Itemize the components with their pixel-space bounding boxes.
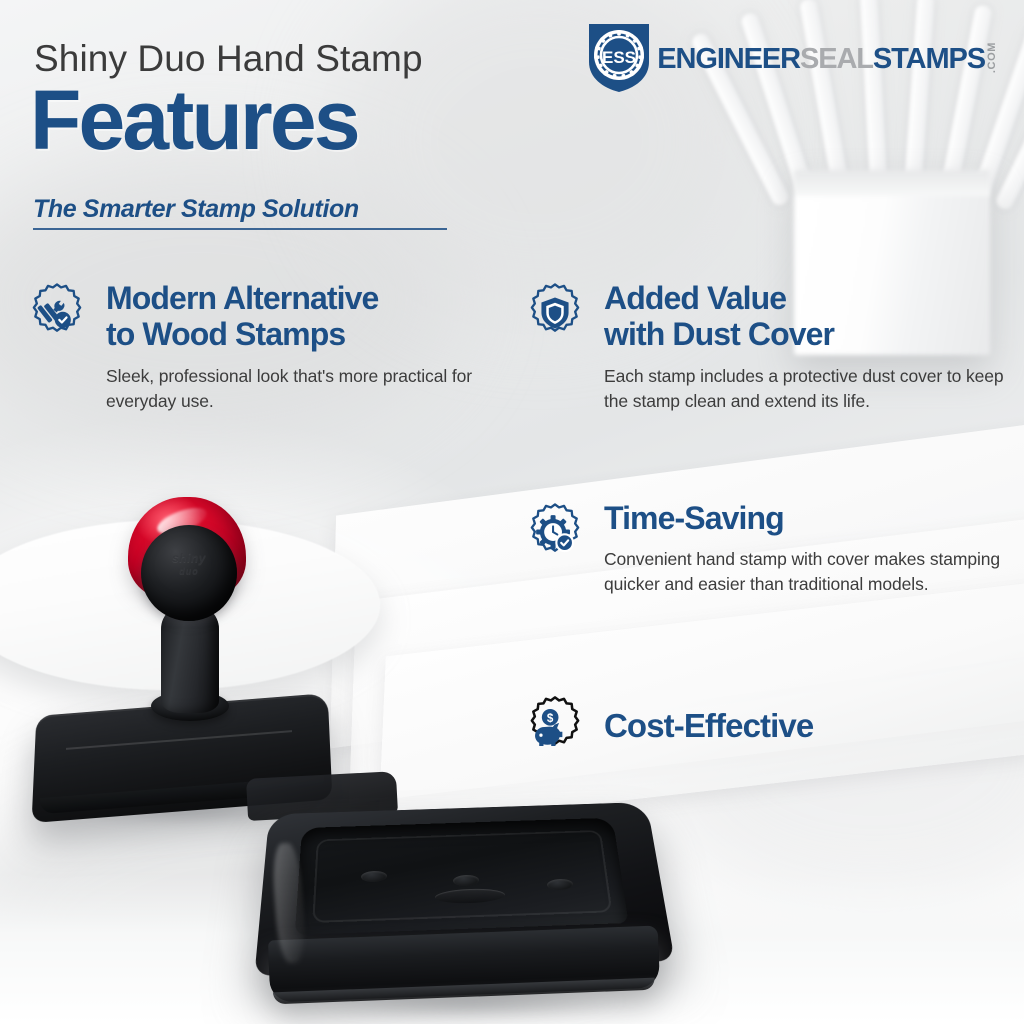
shield-badge-icon (524, 282, 586, 344)
feature-body: Time-Saving Convenient hand stamp with c… (604, 500, 1004, 597)
subtitle: The Smarter Stamp Solution (33, 196, 447, 224)
feature-body: Added Value with Dust Cover Each stamp i… (604, 280, 1004, 414)
dust-cover-tray-photo (255, 785, 675, 1015)
logo-word-dotcom: .COM (987, 42, 998, 73)
feature-body: Modern Alternative to Wood Stamps Sleek,… (106, 280, 496, 414)
tools-check-badge-icon (26, 282, 88, 344)
stamp-brand-line2: duo (141, 566, 237, 577)
ess-badge-text: ESS (602, 48, 636, 67)
page-title: Features (30, 78, 358, 162)
feature-title: Time-Saving (604, 500, 1004, 536)
hand-stamp-product-photo: shiny duo (30, 495, 340, 815)
feature-title: Modern Alternative to Wood Stamps (106, 280, 496, 353)
subtitle-underline (33, 228, 447, 230)
ess-logo[interactable]: ESS ENGINEER SEAL STAMPS .COM (587, 22, 998, 94)
feature-item-time-saving: Time-Saving Convenient hand stamp with c… (524, 500, 1004, 597)
dollar-sign-glyph: $ (547, 712, 554, 725)
logo-word-seal: SEAL (800, 45, 873, 74)
logo-wordmark: ENGINEER SEAL STAMPS .COM (657, 42, 998, 74)
feature-description: Each stamp includes a protective dust co… (604, 364, 1004, 414)
piggy-bank-badge-icon: $ (524, 695, 586, 757)
feature-title: Added Value with Dust Cover (604, 280, 1004, 353)
feature-title-line2: to Wood Stamps (106, 316, 345, 352)
stamp-brand-embossing: shiny duo (141, 551, 237, 577)
feature-title: Cost-Effective (604, 707, 1004, 745)
logo-word-engineer: ENGINEER (657, 45, 800, 74)
feature-item-modern-alternative: Modern Alternative to Wood Stamps Sleek,… (26, 280, 496, 414)
feature-description: Convenient hand stamp with cover makes s… (604, 547, 1004, 597)
logo-word-stamps: STAMPS (873, 45, 985, 74)
feature-item-added-value: Added Value with Dust Cover Each stamp i… (524, 280, 1004, 414)
feature-body: Cost-Effective (604, 707, 1004, 745)
infographic-page: Shiny Duo Hand Stamp (0, 0, 1024, 1024)
feature-title-line1: Modern Alternative (106, 280, 378, 316)
feature-title-line1: Added Value (604, 280, 786, 316)
subtitle-block: The Smarter Stamp Solution (33, 196, 447, 230)
feature-item-cost-effective: $ Cost-Effective (524, 695, 1004, 757)
stamp-brand-line1: shiny (172, 551, 206, 565)
ess-shield-gear-icon: ESS (587, 22, 651, 94)
product-name: Shiny Duo Hand Stamp (34, 40, 423, 77)
feature-description: Sleek, professional look that's more pra… (106, 364, 496, 414)
gear-clock-check-badge-icon (524, 502, 586, 564)
feature-title-line2: with Dust Cover (604, 316, 834, 352)
